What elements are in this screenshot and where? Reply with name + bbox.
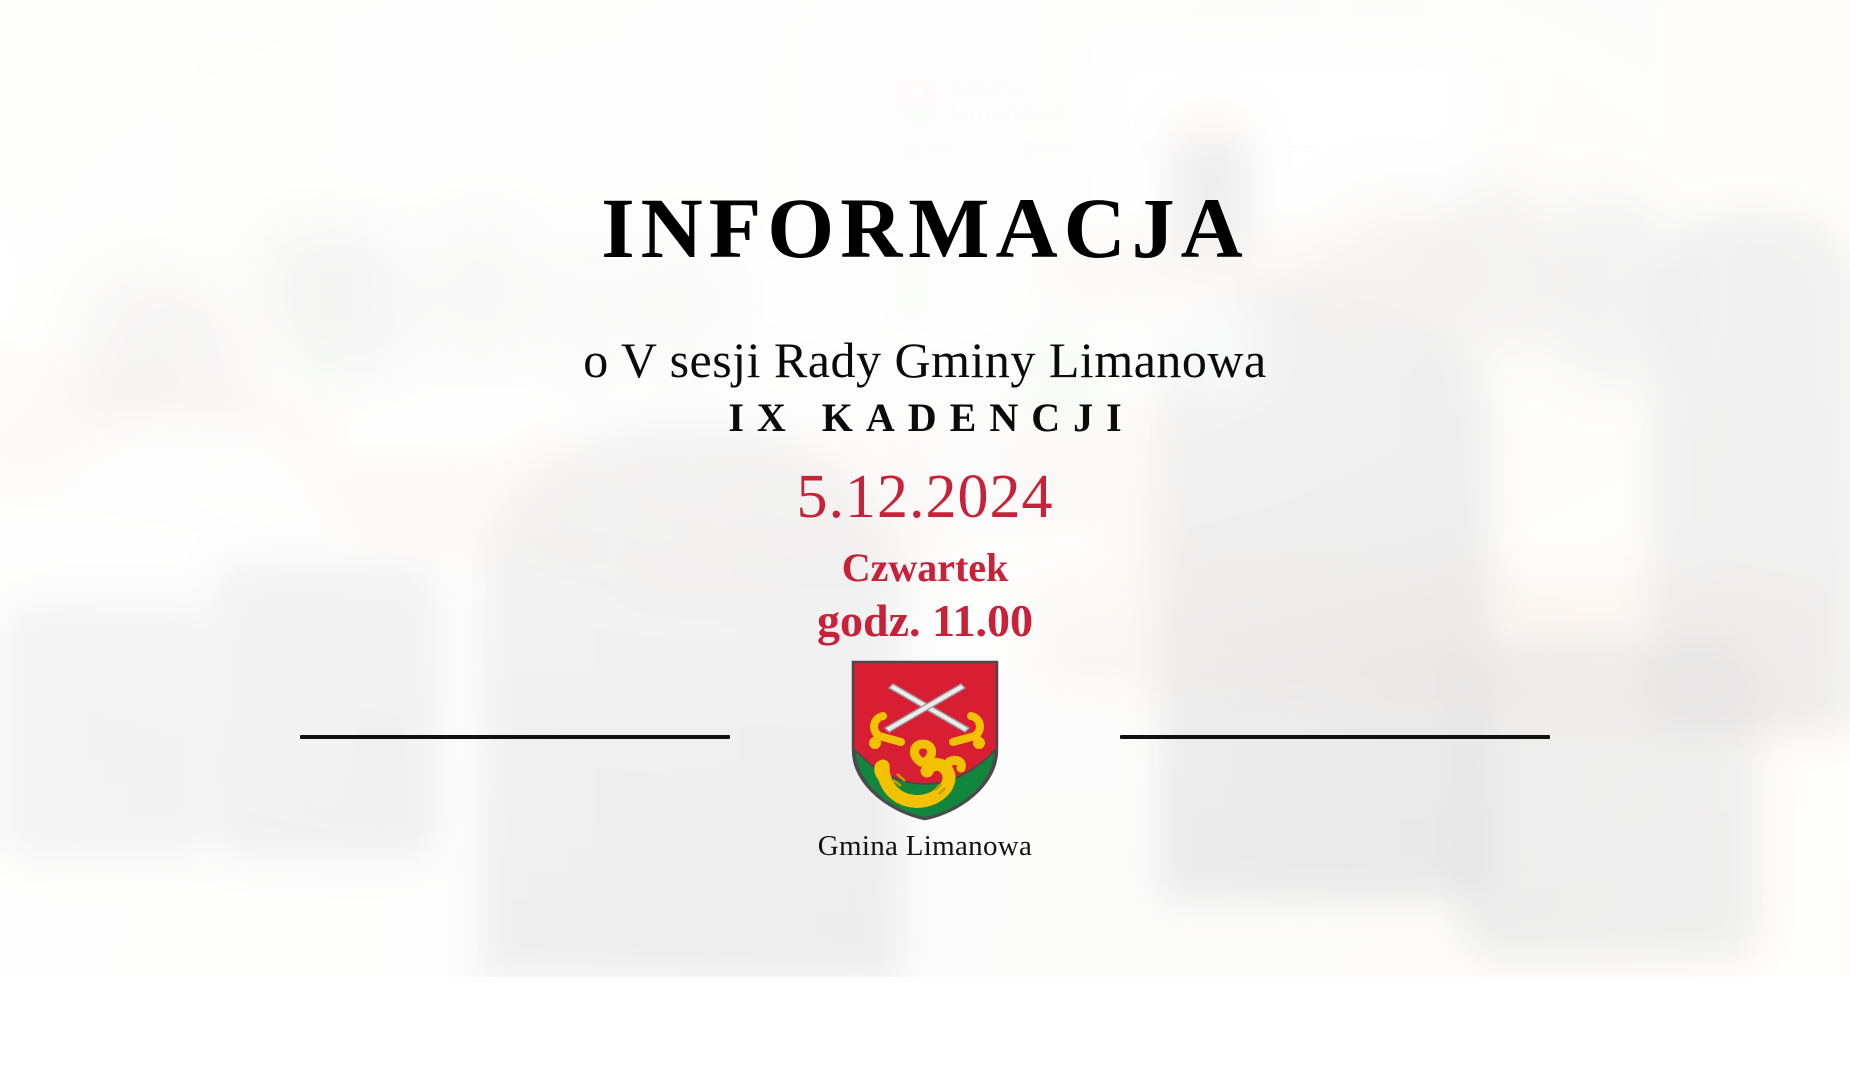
divider-left: [300, 735, 730, 739]
poster: Gmina Limanowa: [0, 0, 1850, 1080]
gmina-limanowa-crest-icon: [849, 658, 1001, 823]
poster-hour: godz. 11.00: [0, 598, 1850, 644]
divider-right: [1120, 735, 1550, 739]
crest-svg: [849, 658, 1001, 823]
page-title: INFORMACJA: [0, 185, 1850, 271]
poster-content: INFORMACJA o V sesji Rady Gminy Limanowa…: [0, 0, 1850, 1080]
poster-term-line: IX KADENCJI: [0, 398, 1850, 438]
poster-weekday: Czwartek: [0, 548, 1850, 588]
poster-subtitle: o V sesji Rady Gminy Limanowa: [0, 335, 1850, 385]
crest-caption: Gmina Limanowa: [0, 832, 1850, 861]
poster-date: 5.12.2024: [0, 466, 1850, 528]
